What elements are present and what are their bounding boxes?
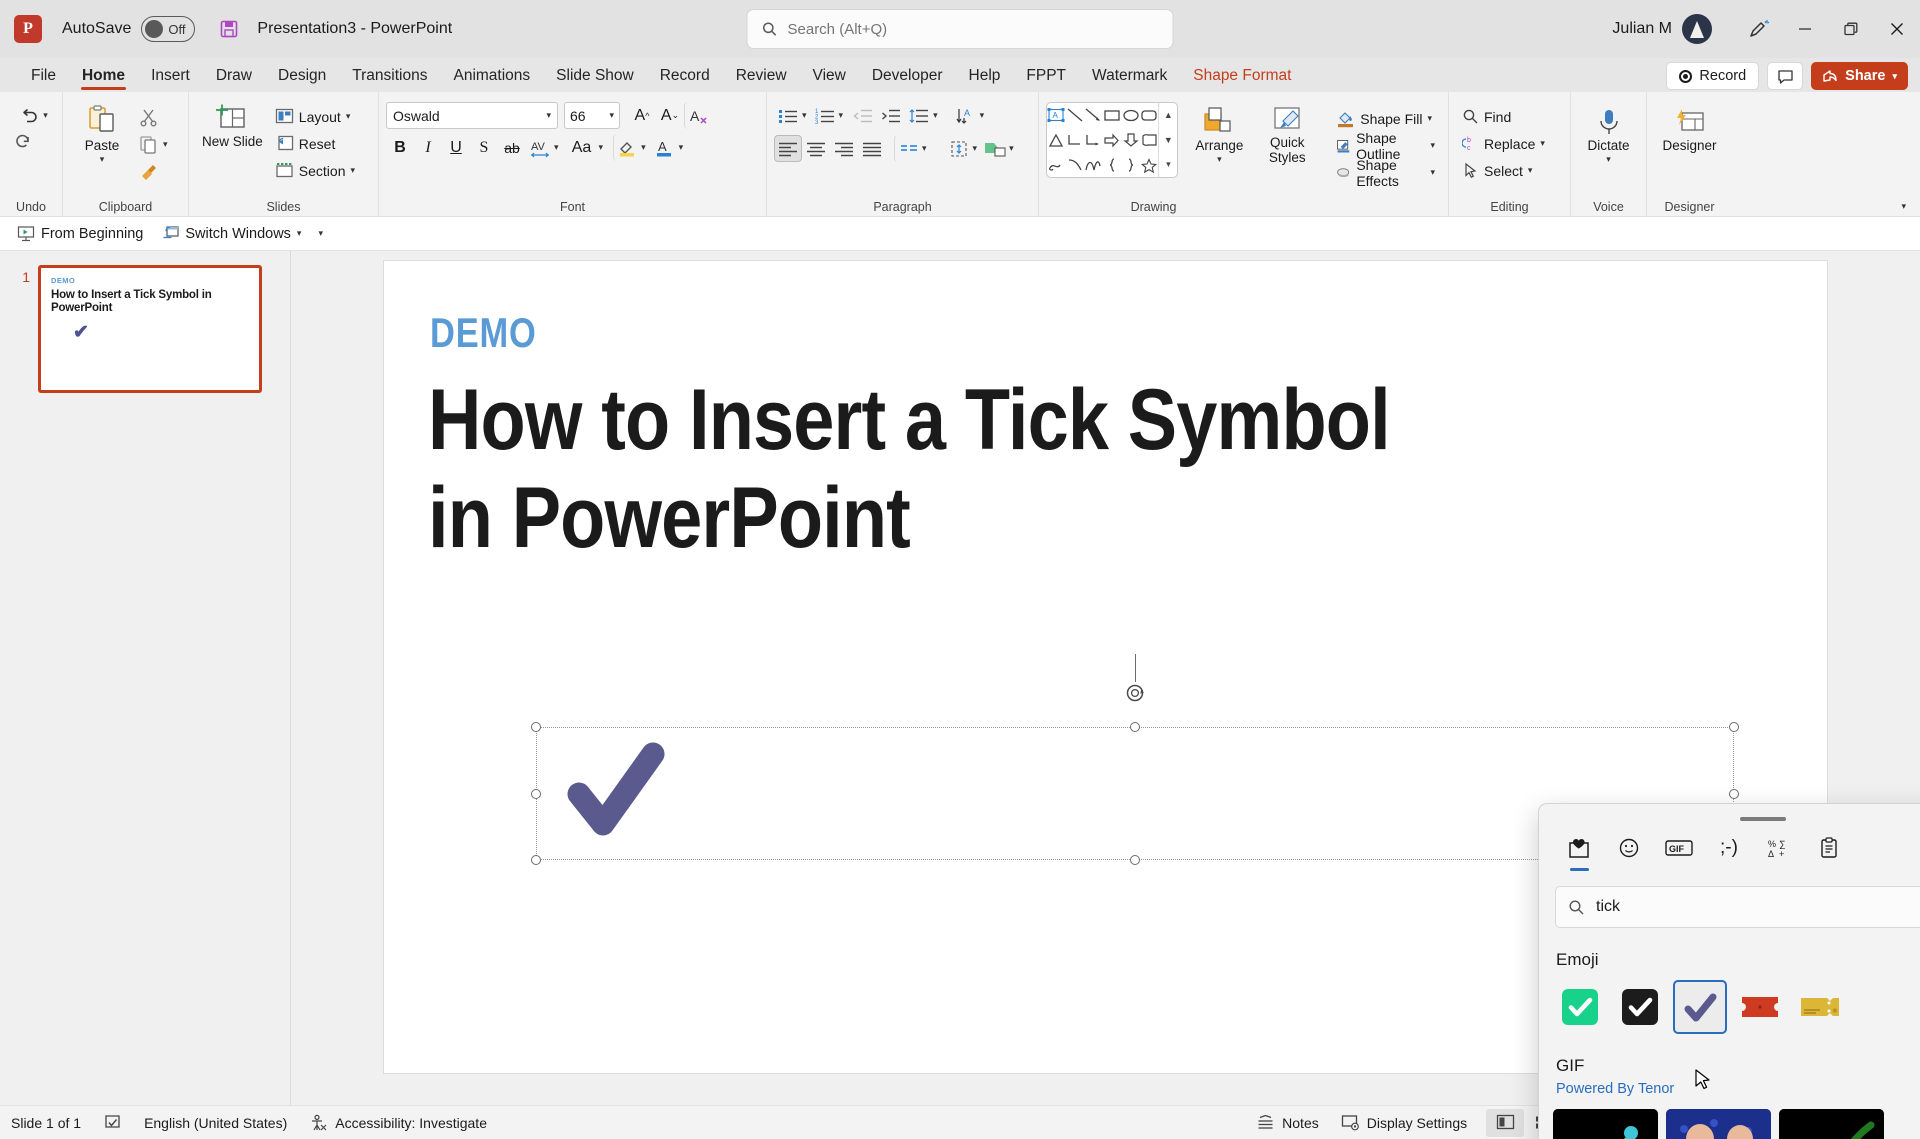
picker-emoji-results: ✱ xyxy=(1553,980,1920,1034)
powerpoint-logo-icon: P xyxy=(14,15,42,43)
ribbon-group-drawing: A xyxy=(1038,92,1448,217)
accessibility-icon xyxy=(309,1114,328,1132)
notes-label: Notes xyxy=(1282,1115,1319,1131)
undo-button[interactable] xyxy=(14,102,43,129)
shape-curve-icon[interactable] xyxy=(1066,152,1085,177)
svg-text:AV: AV xyxy=(531,141,546,153)
paste-button[interactable]: Paste ▾ xyxy=(70,100,134,168)
from-beginning-icon xyxy=(17,225,35,242)
designer-button-label: Designer xyxy=(1662,138,1716,154)
character-spacing-button[interactable]: AV xyxy=(526,134,554,161)
emoji-white-heavy-check-mark[interactable] xyxy=(1553,980,1607,1034)
search-icon xyxy=(1568,899,1585,916)
ribbon-group-slides: New Slide Layout ▾ Reset Section ▾ xyxy=(188,92,378,217)
picker-tab-kaomoji[interactable]: ;-) xyxy=(1707,829,1751,867)
ribbon-group-voice: Dictate ▾ Voice xyxy=(1570,92,1646,217)
picker-search-box[interactable] xyxy=(1555,886,1920,928)
save-icon[interactable] xyxy=(217,17,241,41)
shapes-gallery[interactable]: A xyxy=(1046,102,1178,178)
quick-styles-button-label: Quick Styles xyxy=(1256,136,1318,166)
svg-text:A: A xyxy=(658,139,667,154)
accessibility-status[interactable]: Accessibility: Investigate xyxy=(298,1106,498,1139)
shape-effects-label: Shape Effects xyxy=(1356,157,1425,189)
resize-handle-top-right[interactable] xyxy=(1729,722,1739,732)
shape-oval-icon[interactable] xyxy=(1121,103,1140,128)
rotate-handle[interactable] xyxy=(1124,682,1146,704)
layout-label: Layout xyxy=(299,109,341,125)
decrease-indent-button[interactable] xyxy=(849,102,877,129)
clear-formatting-button[interactable]: A xyxy=(684,102,712,129)
justify-button[interactable] xyxy=(858,135,886,162)
redo-button[interactable] xyxy=(10,129,39,156)
section-label: Section xyxy=(299,163,346,179)
shape-triangle-icon[interactable] xyxy=(1047,128,1066,153)
chevron-down-icon[interactable]: ▾ xyxy=(346,111,351,122)
tab-review[interactable]: Review xyxy=(723,63,800,92)
align-left-button[interactable] xyxy=(774,135,802,162)
share-button[interactable]: Share ▾ xyxy=(1811,62,1908,90)
tab-help[interactable]: Help xyxy=(956,63,1014,92)
main-area: 1 DEMO How to Insert a Tick Symbol in Po… xyxy=(0,251,1920,1105)
picker-section-heading-emoji: Emoji xyxy=(1556,950,1920,970)
new-slide-button[interactable]: New Slide xyxy=(196,100,269,154)
font-color-button[interactable]: A xyxy=(651,134,679,161)
increase-indent-button[interactable] xyxy=(877,102,905,129)
chevron-down-icon[interactable]: ▾ xyxy=(1428,113,1433,124)
check-mark-shape[interactable] xyxy=(563,738,667,846)
find-label: Find xyxy=(1484,109,1511,125)
gif-green-check[interactable] xyxy=(1553,1109,1658,1139)
ribbon-group-font: Oswald ▾ 66 ▾ A^ A⌄ A B I U S ab xyxy=(378,92,766,217)
search-input[interactable] xyxy=(788,21,1118,38)
chevron-down-icon[interactable]: ▾ xyxy=(980,110,985,121)
strikethrough-button[interactable]: ab xyxy=(498,134,526,161)
line-spacing-button[interactable] xyxy=(905,102,933,129)
shapes-scroll-up-icon[interactable]: ▲ xyxy=(1159,103,1177,128)
display-settings-icon xyxy=(1341,1114,1360,1131)
format-painter-button[interactable] xyxy=(134,158,163,185)
ribbon-tab-bar: File Home Insert Draw Design Transitions… xyxy=(0,58,1920,92)
tab-file[interactable]: File xyxy=(18,63,69,92)
chevron-down-icon[interactable]: ▾ xyxy=(100,154,105,164)
svg-text:A: A xyxy=(1053,111,1059,120)
paste-button-label: Paste xyxy=(85,138,120,154)
language-indicator[interactable]: English (United States) xyxy=(133,1106,298,1139)
slide-eyebrow: DEMO xyxy=(430,309,537,357)
tenor-attribution-link[interactable]: Powered By Tenor xyxy=(1556,1081,1920,1097)
align-center-button[interactable] xyxy=(802,135,830,162)
tab-record[interactable]: Record xyxy=(647,63,723,92)
tab-watermark[interactable]: Watermark xyxy=(1079,63,1180,92)
ribbon-collapse-icon[interactable]: ▾ xyxy=(1901,201,1906,212)
slide-canvas-area: DEMO How to Insert a Tick Symbol in Powe… xyxy=(291,251,1920,1105)
shape-right-arrow-icon[interactable] xyxy=(1103,128,1122,153)
chevron-down-icon[interactable]: ▾ xyxy=(1430,140,1435,151)
comments-button[interactable] xyxy=(1767,62,1803,90)
picker-tab-symbols[interactable]: %∑Δ+ xyxy=(1757,829,1801,867)
share-button-label: Share xyxy=(1845,68,1885,84)
search-icon xyxy=(762,21,778,37)
thumbnail-tick-icon: ✔ xyxy=(73,321,249,344)
svg-text:GIF: GIF xyxy=(1669,844,1685,854)
shape-rounded-rectangle-icon[interactable] xyxy=(1140,103,1159,128)
close-button[interactable] xyxy=(1874,0,1920,58)
resize-handle-bottom-center[interactable] xyxy=(1130,855,1140,865)
slide-thumbnail-1[interactable]: DEMO How to Insert a Tick Symbol in Powe… xyxy=(38,265,262,393)
tab-developer[interactable]: Developer xyxy=(859,63,956,92)
user-name: Julian M xyxy=(1612,20,1672,38)
chevron-down-icon[interactable]: ▾ xyxy=(679,142,684,153)
ribbon-group-font-label: Font xyxy=(386,197,759,217)
slide-title[interactable]: How to Insert a Tick Symbol in PowerPoin… xyxy=(428,371,1417,567)
record-button-label: Record xyxy=(1699,68,1746,84)
accessibility-label: Accessibility: Investigate xyxy=(335,1115,487,1131)
chevron-down-icon[interactable]: ▾ xyxy=(609,110,614,121)
new-slide-button-label: New Slide xyxy=(202,134,263,150)
ribbon-group-editing: Find bc Replace ▾ Select ▾ Editing xyxy=(1448,92,1570,217)
shape-star-icon[interactable] xyxy=(1140,152,1159,177)
svg-text:✱: ✱ xyxy=(1832,1007,1838,1015)
tab-fppt[interactable]: FPPT xyxy=(1013,63,1079,92)
shape-outline-button[interactable]: Shape Outline ▾ xyxy=(1330,132,1441,159)
tab-transitions[interactable]: Transitions xyxy=(339,63,440,92)
minimize-button[interactable] xyxy=(1782,0,1828,58)
ribbon-group-clipboard: Paste ▾ ▾ Clipboard xyxy=(62,92,188,217)
rotate-stem xyxy=(1135,654,1136,682)
svg-text:%: % xyxy=(1768,839,1776,849)
switch-windows-icon xyxy=(161,225,179,242)
autosave-state: Off xyxy=(168,22,185,37)
columns-button[interactable] xyxy=(894,135,922,162)
undo-dropdown-icon[interactable]: ▾ xyxy=(43,110,48,121)
mouse-cursor-icon xyxy=(1695,1069,1712,1093)
qat-customize-icon[interactable]: ▾ xyxy=(318,228,323,239)
reset-label: Reset xyxy=(299,136,336,152)
tab-home[interactable]: Home xyxy=(69,63,138,92)
ribbon-group-designer: Designer Designer xyxy=(1646,92,1732,217)
switch-windows-label: Switch Windows xyxy=(185,226,291,242)
italic-button[interactable]: I xyxy=(414,134,442,161)
shape-fill-button[interactable]: Shape Fill ▾ xyxy=(1330,105,1441,132)
underline-button[interactable]: U xyxy=(442,134,470,161)
shape-wave-icon[interactable] xyxy=(1084,152,1103,177)
svg-text:∑: ∑ xyxy=(1779,839,1785,849)
from-beginning-label: From Beginning xyxy=(41,226,143,242)
resize-handle-top-left[interactable] xyxy=(531,722,541,732)
notes-button[interactable]: Notes xyxy=(1245,1106,1330,1139)
chevron-down-icon[interactable]: ▾ xyxy=(1606,154,1611,164)
chevron-down-icon[interactable]: ▾ xyxy=(546,110,551,121)
slide-thumbnail-pane: 1 DEMO How to Insert a Tick Symbol in Po… xyxy=(0,251,290,1105)
chevron-down-icon: ▾ xyxy=(1892,71,1897,82)
titlebar-right-cluster: Julian M xyxy=(1612,0,1920,58)
numbering-button[interactable]: 123 xyxy=(811,102,839,129)
avatar[interactable] xyxy=(1682,14,1712,44)
svg-text:+: + xyxy=(1779,849,1784,859)
ribbon-group-drawing-label: Drawing xyxy=(866,197,1441,217)
emoji-red-ticket[interactable] xyxy=(1733,980,1787,1034)
from-beginning-button[interactable]: From Beginning xyxy=(10,222,150,245)
convert-to-smartart-button[interactable] xyxy=(981,135,1009,162)
title-bar: P AutoSave Off Presentation3 - PowerPoin… xyxy=(0,0,1920,58)
tab-slide-show[interactable]: Slide Show xyxy=(543,63,647,92)
chevron-down-icon[interactable]: ▾ xyxy=(802,110,807,121)
notes-icon xyxy=(1256,1115,1275,1131)
shape-down-arrow-icon[interactable] xyxy=(1121,128,1140,153)
display-settings-label: Display Settings xyxy=(1367,1115,1467,1131)
gif-tick-tick-tick[interactable]: TICK. TICK. TICK. xyxy=(1666,1109,1771,1139)
pen-effects-icon[interactable] xyxy=(1736,0,1782,58)
svg-text:A: A xyxy=(690,108,700,124)
svg-text:3: 3 xyxy=(815,120,819,124)
quick-access-toolbar: From Beginning Switch Windows ▾ ▾ xyxy=(0,217,1920,251)
tab-insert[interactable]: Insert xyxy=(138,63,203,92)
tab-draw[interactable]: Draw xyxy=(203,63,265,92)
picker-section-heading-gif: GIF xyxy=(1556,1056,1920,1076)
emoji-black-square-check-mark[interactable] xyxy=(1613,980,1667,1034)
svg-text:Δ: Δ xyxy=(1768,849,1774,859)
ribbon-group-slides-label: Slides xyxy=(196,197,371,217)
ribbon-group-editing-label: Editing xyxy=(1456,197,1563,217)
copy-dropdown-icon[interactable]: ▾ xyxy=(163,139,168,150)
shape-textbox-icon[interactable]: A xyxy=(1047,103,1066,128)
view-normal-button[interactable] xyxy=(1486,1109,1524,1137)
slide-count[interactable]: Slide 1 of 1 xyxy=(0,1106,92,1139)
chevron-down-icon[interactable]: ▾ xyxy=(922,143,927,154)
picker-gif-results: TICK. TICK. TICK. xyxy=(1553,1109,1920,1139)
chevron-down-icon[interactable]: ▾ xyxy=(933,110,938,121)
document-title: Presentation3 - PowerPoint xyxy=(257,20,452,38)
quick-styles-button[interactable]: Quick Styles xyxy=(1250,102,1324,170)
chevron-down-icon[interactable]: ▾ xyxy=(641,142,646,153)
arrange-button[interactable]: Arrange ▾ xyxy=(1188,102,1250,168)
layout-button[interactable]: Layout ▾ xyxy=(269,103,361,130)
ribbon-tabs-right: Record Share ▾ xyxy=(1666,62,1908,90)
resize-handle-bottom-left[interactable] xyxy=(531,855,541,865)
bold-button[interactable]: B xyxy=(386,134,414,161)
emoji-picker-panel[interactable]: GIF ;-) %∑Δ+ Emoji xyxy=(1538,803,1920,1139)
text-highlight-color-button[interactable] xyxy=(613,134,641,161)
switch-windows-button[interactable]: Switch Windows ▾ xyxy=(154,222,308,245)
shape-arrow-icon[interactable] xyxy=(1084,103,1103,128)
copy-button[interactable] xyxy=(134,131,163,158)
shape-line-icon[interactable] xyxy=(1066,103,1085,128)
shape-elbow-arrow-icon[interactable] xyxy=(1084,128,1103,153)
ribbon-group-clipboard-label: Clipboard xyxy=(70,197,181,217)
shapes-grid: A xyxy=(1047,103,1158,177)
display-settings-button[interactable]: Display Settings xyxy=(1330,1106,1478,1139)
picker-tab-gif[interactable]: GIF xyxy=(1657,829,1701,867)
text-shadow-button[interactable]: S xyxy=(470,134,498,161)
tab-shape-format[interactable]: Shape Format xyxy=(1180,63,1304,92)
picker-tab-clipboard[interactable] xyxy=(1807,829,1851,867)
chevron-down-icon[interactable]: ▾ xyxy=(554,142,559,153)
svg-text:b: b xyxy=(1467,137,1471,144)
shape-elbow-connector-icon[interactable] xyxy=(1066,128,1085,153)
shapes-gallery-more-icon[interactable]: ▾ xyxy=(1159,152,1177,177)
section-button[interactable]: Section ▾ xyxy=(269,157,361,184)
shape-scribble-icon[interactable] xyxy=(1047,152,1066,177)
tab-view[interactable]: View xyxy=(800,63,859,92)
chevron-down-icon[interactable]: ▾ xyxy=(1540,138,1545,149)
ribbon-group-undo: ▾ Undo xyxy=(0,92,62,217)
autosave-toggle[interactable]: Off xyxy=(141,16,195,42)
emoji-admission-ticket[interactable]: ✱ xyxy=(1793,980,1847,1034)
shapes-gallery-scroll[interactable]: ▲ ▼ ▾ xyxy=(1158,103,1177,177)
thumbnail-eyebrow: DEMO xyxy=(51,276,249,285)
chevron-down-icon[interactable]: ▾ xyxy=(839,110,844,121)
select-label: Select xyxy=(1484,163,1523,179)
shape-rectangle-icon[interactable] xyxy=(1103,103,1122,128)
record-dot-icon xyxy=(1679,70,1692,83)
shape-fill-label: Shape Fill xyxy=(1360,111,1422,127)
toggle-knob xyxy=(145,20,163,38)
find-button[interactable]: Find xyxy=(1456,103,1517,130)
ribbon: ▾ Undo Paste ▾ ▾ xyxy=(0,92,1920,217)
resize-handle-middle-left[interactable] xyxy=(531,789,541,799)
restore-button[interactable] xyxy=(1828,0,1874,58)
thumbnail-title: How to Insert a Tick Symbol in PowerPoin… xyxy=(51,289,249,315)
tab-design[interactable]: Design xyxy=(265,63,339,92)
gif-dark-green-check[interactable] xyxy=(1779,1109,1884,1139)
svg-text:c: c xyxy=(1467,145,1471,152)
decrease-font-size-button[interactable]: A⌄ xyxy=(656,102,684,129)
reset-button[interactable]: Reset xyxy=(269,130,361,157)
align-right-button[interactable] xyxy=(830,135,858,162)
chevron-down-icon[interactable]: ▾ xyxy=(297,228,302,239)
emoji-heavy-check-mark[interactable] xyxy=(1673,980,1727,1034)
select-button[interactable]: Select ▾ xyxy=(1456,157,1538,184)
picker-tab-bar: GIF ;-) %∑Δ+ xyxy=(1539,821,1920,867)
resize-handle-middle-right[interactable] xyxy=(1729,789,1739,799)
thumbnail-row[interactable]: 1 DEMO How to Insert a Tick Symbol in Po… xyxy=(0,265,290,393)
chevron-down-icon[interactable]: ▾ xyxy=(1430,167,1435,178)
bullets-button[interactable] xyxy=(774,102,802,129)
replace-button[interactable]: bc Replace ▾ xyxy=(1456,130,1551,157)
picker-tab-recent[interactable] xyxy=(1557,829,1601,867)
dictate-button[interactable]: Dictate ▾ xyxy=(1580,104,1638,168)
chevron-down-icon[interactable]: ▾ xyxy=(1528,165,1533,176)
font-size-value: 66 xyxy=(570,108,586,124)
increase-font-size-button[interactable]: A^ xyxy=(628,102,656,129)
ribbon-group-undo-label: Undo xyxy=(7,197,55,217)
chevron-down-icon[interactable]: ▾ xyxy=(1009,143,1014,154)
change-case-button[interactable]: Aa xyxy=(565,134,599,161)
font-name-combobox[interactable]: Oswald ▾ xyxy=(386,102,558,129)
shape-right-brace-icon[interactable] xyxy=(1121,152,1140,177)
thumbnail-number: 1 xyxy=(10,269,30,285)
font-size-combobox[interactable]: 66 ▾ xyxy=(564,102,620,129)
spell-check-icon xyxy=(103,1114,122,1132)
picker-search-input[interactable] xyxy=(1596,898,1920,916)
chevron-down-icon[interactable]: ▾ xyxy=(350,165,355,176)
text-direction-button[interactable]: A xyxy=(952,102,980,129)
shape-effects-button[interactable]: Shape Effects ▾ xyxy=(1330,159,1441,186)
align-text-button[interactable] xyxy=(945,135,973,162)
cut-button[interactable] xyxy=(134,104,163,131)
tab-animations[interactable]: Animations xyxy=(440,63,543,92)
shape-left-brace-icon[interactable] xyxy=(1103,152,1122,177)
arrange-button-label: Arrange xyxy=(1195,138,1243,154)
chevron-down-icon[interactable]: ▾ xyxy=(599,142,604,153)
shapes-scroll-down-icon[interactable]: ▼ xyxy=(1159,128,1177,153)
search-box[interactable] xyxy=(748,10,1173,48)
ribbon-group-designer-label: Designer xyxy=(1654,197,1725,217)
resize-handle-top-center[interactable] xyxy=(1130,722,1140,732)
designer-button[interactable]: Designer xyxy=(1656,104,1722,158)
autosave-label: AutoSave xyxy=(62,20,131,38)
chevron-down-icon[interactable]: ▾ xyxy=(1217,154,1222,164)
record-button[interactable]: Record xyxy=(1666,62,1759,90)
chevron-down-icon[interactable]: ▾ xyxy=(973,143,978,154)
share-icon xyxy=(1822,68,1838,84)
picker-tab-emoji[interactable] xyxy=(1607,829,1651,867)
shape-flowchart-icon[interactable] xyxy=(1140,128,1159,153)
font-name-value: Oswald xyxy=(393,108,440,124)
dictate-button-label: Dictate xyxy=(1587,138,1629,154)
spell-check-button[interactable] xyxy=(92,1106,133,1139)
ribbon-group-voice-label: Voice xyxy=(1578,197,1639,217)
replace-label: Replace xyxy=(1484,136,1535,152)
svg-text:A: A xyxy=(964,108,970,118)
